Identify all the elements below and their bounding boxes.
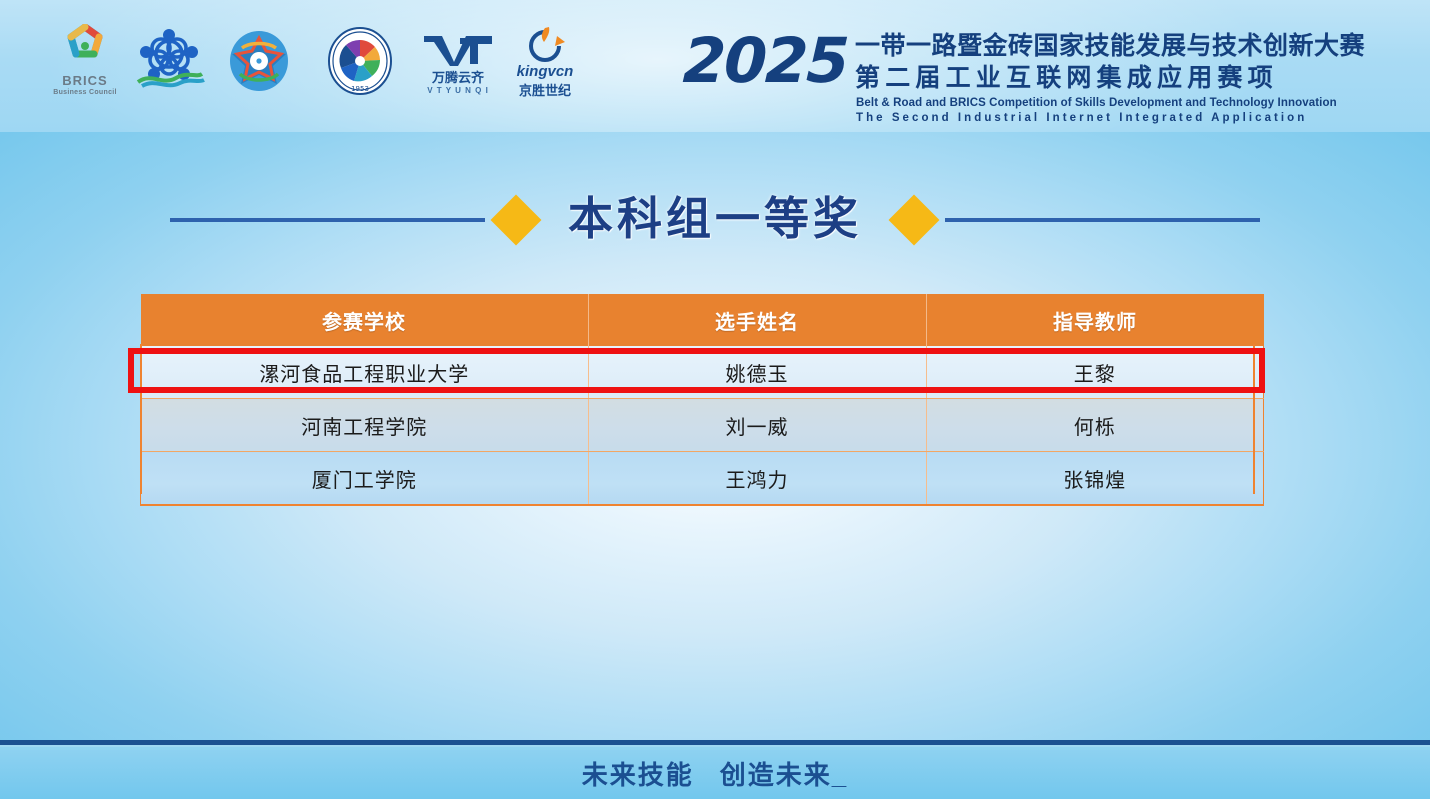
table-row: 厦门工学院 王鸿力 张锦煌 bbox=[141, 452, 1264, 506]
cell-school: 河南工程学院 bbox=[141, 399, 589, 452]
competition-title-en-line2: The Second Industrial Internet Integrate… bbox=[856, 113, 1307, 125]
table-header-row: 参赛学校 选手姓名 指导教师 bbox=[141, 294, 1264, 346]
competition-title-en-line1: Belt & Road and BRICS Competition of Ski… bbox=[856, 98, 1337, 110]
henan-mechanical-electrical-vocational-college-logo: 1953 bbox=[326, 26, 394, 96]
section-title-banner: 本科组一等奖 bbox=[0, 186, 1430, 256]
cell-teacher: 张锦煌 bbox=[926, 452, 1264, 506]
cell-school: 厦门工学院 bbox=[141, 452, 589, 506]
cell-teacher: 何栎 bbox=[926, 399, 1264, 452]
page-title: 本科组一等奖 bbox=[0, 186, 1430, 252]
brics-business-council-logo: BRICS Business Council bbox=[50, 24, 120, 97]
brics-logo-caption: BRICS bbox=[50, 74, 120, 89]
footer-slogan-left: 未来技能 bbox=[582, 760, 694, 790]
kingvcn-logo: kingvcn 京胜世纪 bbox=[508, 26, 582, 99]
table-row: 河南工程学院 刘一威 何栎 bbox=[141, 399, 1264, 452]
page-header: BRICS Business Council bbox=[0, 0, 1430, 132]
column-header-student: 选手姓名 bbox=[588, 294, 926, 346]
star-globe-emblem-logo bbox=[228, 30, 290, 92]
vtyunqi-logo-subcaption: V T Y U N Q I bbox=[420, 86, 496, 95]
competition-year: 2025 bbox=[682, 30, 849, 92]
vtyunqi-logo-caption: 万腾云齐 bbox=[420, 67, 496, 86]
footer-slogan: 未来技能创造未来_ bbox=[0, 755, 1430, 792]
column-header-teacher: 指导教师 bbox=[926, 294, 1264, 346]
highlight-box bbox=[128, 348, 1265, 393]
kingvcn-logo-caption: kingvcn bbox=[508, 63, 582, 80]
kingvcn-logo-subcaption: 京胜世纪 bbox=[508, 80, 582, 99]
competition-title-cn-line2: 第二届工业互联网集成应用赛项 bbox=[855, 66, 1278, 91]
cell-student: 刘一威 bbox=[588, 399, 926, 452]
brics-logo-subcaption: Business Council bbox=[50, 89, 120, 97]
blue-knot-emblem-logo bbox=[132, 28, 206, 92]
footer-slogan-right: 创造未来_ bbox=[720, 760, 848, 790]
competition-title-block: 2025 一带一路暨金砖国家技能发展与技术创新大赛 第二届工业互联网集成应用赛项… bbox=[683, 28, 1423, 124]
column-header-school: 参赛学校 bbox=[141, 294, 589, 346]
competition-title-cn-line1: 一带一路暨金砖国家技能发展与技术创新大赛 bbox=[855, 34, 1365, 59]
vtyunqi-logo: 万腾云齐 V T Y U N Q I bbox=[420, 32, 496, 95]
award-table: 参赛学校 选手姓名 指导教师 漯河食品工程职业大学 姚德玉 王黎 河南工程学院 … bbox=[140, 294, 1255, 506]
svg-text:1953: 1953 bbox=[351, 85, 369, 93]
cell-student: 王鸿力 bbox=[588, 452, 926, 506]
